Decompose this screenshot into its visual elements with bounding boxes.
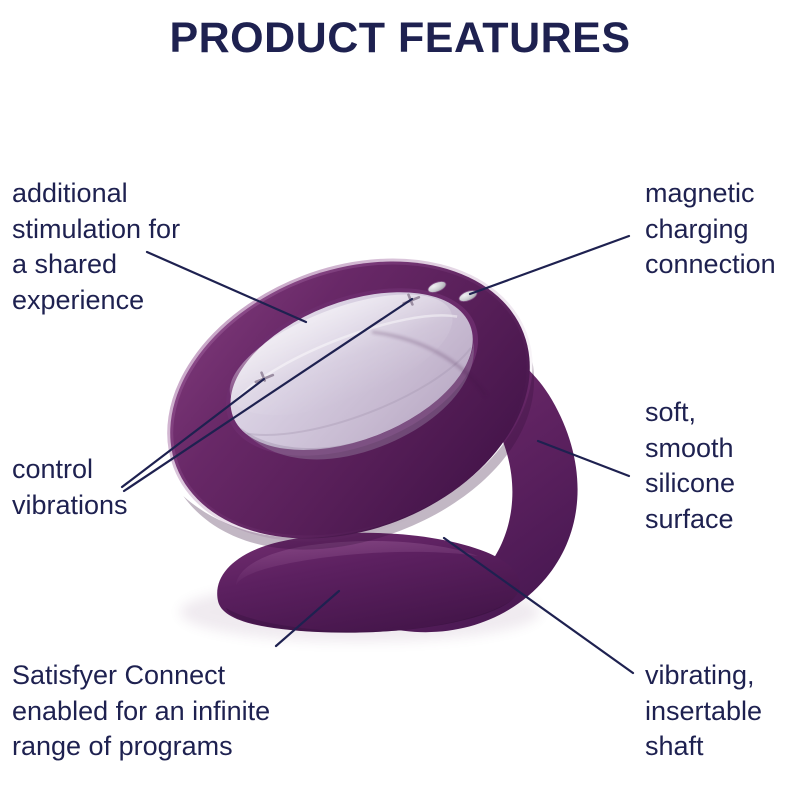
- product-arch-arm: [372, 326, 578, 632]
- magnetic-contact-1: [426, 279, 447, 295]
- product-features-infographic: PRODUCT FEATURES: [0, 0, 800, 800]
- leader-line-satisfyer-connect: [276, 591, 339, 646]
- magnetic-contact-2: [457, 288, 478, 304]
- callout-satisfyer-connect: Satisfyer Connect enabled for an infinit…: [12, 658, 342, 765]
- product-ground-shadow: [180, 582, 540, 642]
- leader-line-soft-smooth-silicone: [538, 441, 629, 476]
- callout-vibrating-insertable-shaft: vibrating, insertable shaft: [645, 658, 800, 765]
- panel-seam-lower: [247, 348, 480, 456]
- callout-magnetic-charging: magnetic charging connection: [645, 176, 800, 283]
- product-insertable-shaft: [217, 533, 520, 633]
- magnetic-charging-contacts: [426, 279, 478, 304]
- callout-additional-stimulation: additional stimulation for a shared expe…: [12, 176, 282, 319]
- shaft-shading: [226, 600, 512, 633]
- page-title: PRODUCT FEATURES: [0, 14, 800, 63]
- callout-control-vibrations: control vibrations: [12, 452, 252, 523]
- shaft-highlight: [236, 541, 478, 585]
- lobe-arch-crease: [372, 332, 486, 396]
- control-mark-upper: [400, 290, 422, 309]
- leader-line-magnetic-charging: [470, 236, 629, 294]
- leader-line-vibrating-shaft: [444, 538, 633, 673]
- callout-soft-smooth-silicone: soft, smooth silicone surface: [645, 395, 800, 538]
- control-mark-lower: [252, 367, 276, 385]
